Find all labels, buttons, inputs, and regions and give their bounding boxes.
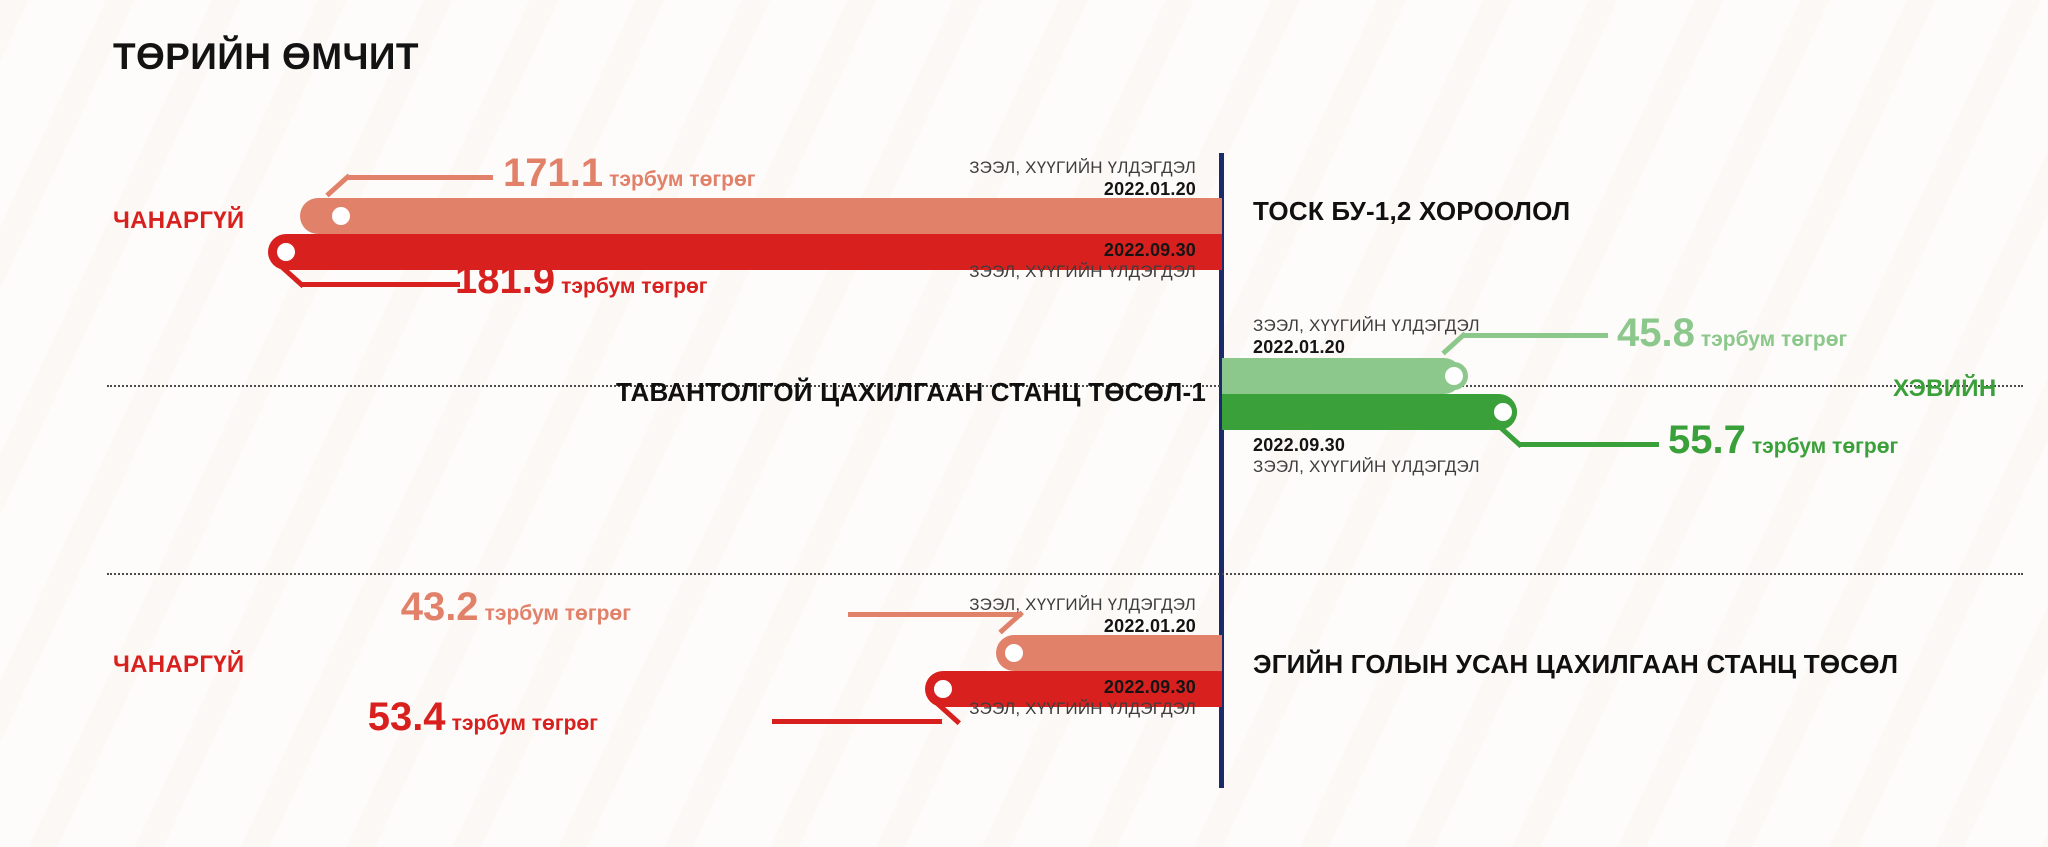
status-badge: ЧАНАРГҮЙ — [113, 651, 244, 679]
value-number: 55.7 — [1668, 418, 1746, 462]
meta-2022-09-30: 2022.09.30 ЗЭЭЛ, ХҮҮГИЙН ҮЛДЭГДЭЛ — [969, 240, 1196, 283]
value-number: 43.2 — [401, 585, 479, 629]
value-number: 45.8 — [1617, 311, 1695, 355]
bar-2022-01-20 — [1222, 358, 1462, 394]
meta-2022-09-30: 2022.09.30 ЗЭЭЛ, ХҮҮГИЙН ҮЛДЭГДЭЛ — [969, 677, 1196, 720]
date-label: 2022.09.30 — [1253, 435, 1480, 457]
date-label: 2022.09.30 — [969, 677, 1196, 699]
bar-end-knob-2022-01-20 — [1000, 639, 1028, 667]
loan-caption: ЗЭЭЛ, ХҮҮГИЙН ҮЛДЭГДЭЛ — [1253, 316, 1480, 337]
bar-end-knob-2022-09-30 — [272, 238, 300, 266]
value-unit: тэрбум төгрөг — [561, 275, 707, 298]
loan-caption: ЗЭЭЛ, ХҮҮГИЙН ҮЛДЭГДЭЛ — [969, 595, 1196, 616]
bar-end-knob-2022-09-30 — [929, 675, 957, 703]
value-label-2022-01-20: 43.2тэрбум төгрөг — [401, 585, 631, 630]
bar-2022-09-30 — [1222, 394, 1517, 430]
meta-2022-01-20: ЗЭЭЛ, ХҮҮГИЙН ҮЛДЭГДЭЛ 2022.01.20 — [1253, 316, 1480, 359]
project-name: ТАВАНТОЛГОЙ ЦАХИЛГААН СТАНЦ ТӨСӨЛ-1 — [616, 377, 1206, 408]
date-label: 2022.01.20 — [969, 616, 1196, 638]
bar-2022-01-20 — [300, 198, 1222, 234]
meta-2022-09-30: 2022.09.30 ЗЭЭЛ, ХҮҮГИЙН ҮЛДЭГДЭЛ — [1253, 435, 1480, 478]
loan-caption: ЗЭЭЛ, ХҮҮГИЙН ҮЛДЭГДЭЛ — [969, 158, 1196, 179]
value-label-2022-01-20: 171.1тэрбум төгрөг — [503, 151, 756, 196]
chart-row-egiin-gol: ЧАНАРГҮЙ 43.2тэрбум төгрөг 53.4тэрбум тө… — [0, 573, 2048, 788]
value-unit: тэрбум төгрөг — [1752, 435, 1898, 458]
loan-caption: ЗЭЭЛ, ХҮҮГИЙН ҮЛДЭГДЭЛ — [969, 262, 1196, 283]
loan-caption: ЗЭЭЛ, ХҮҮГИЙН ҮЛДЭГДЭЛ — [969, 699, 1196, 720]
status-badge: ХЭВИЙН — [1893, 375, 1996, 403]
bar-2022-01-20 — [996, 635, 1222, 671]
project-name: ТОСК БУ-1,2 ХОРООЛОЛ — [1253, 196, 1570, 227]
value-number: 181.9 — [455, 258, 555, 302]
meta-2022-01-20: ЗЭЭЛ, ХҮҮГИЙН ҮЛДЭГДЭЛ 2022.01.20 — [969, 595, 1196, 638]
value-unit: тэрбум төгрөг — [609, 168, 755, 191]
value-label-2022-09-30: 181.9тэрбум төгрөг — [455, 258, 708, 303]
chart-row-tavantolgoi: ХЭВИЙН 45.8тэрбум төгрөг 55.7тэрбум төгр… — [0, 385, 2048, 573]
value-label-2022-09-30: 53.4тэрбум төгрөг — [368, 695, 598, 740]
page-title: ТӨРИЙН ӨМЧИТ — [113, 36, 419, 78]
bar-end-knob-2022-01-20 — [1440, 362, 1468, 390]
value-number: 53.4 — [368, 695, 446, 739]
value-label-2022-01-20: 45.8тэрбум төгрөг — [1617, 311, 1847, 356]
meta-2022-01-20: ЗЭЭЛ, ХҮҮГИЙН ҮЛДЭГДЭЛ 2022.01.20 — [969, 158, 1196, 201]
loan-caption: ЗЭЭЛ, ХҮҮГИЙН ҮЛДЭГДЭЛ — [1253, 457, 1480, 478]
bar-end-knob-2022-09-30 — [1489, 398, 1517, 426]
project-name: ЭГИЙН ГОЛЫН УСАН ЦАХИЛГААН СТАНЦ ТӨСӨЛ — [1253, 649, 1898, 680]
date-label: 2022.01.20 — [1253, 337, 1480, 359]
date-label: 2022.09.30 — [969, 240, 1196, 262]
value-unit: тэрбум төгрөг — [452, 712, 598, 735]
date-label: 2022.01.20 — [969, 179, 1196, 201]
value-unit: тэрбум төгрөг — [1701, 328, 1847, 351]
value-number: 171.1 — [503, 151, 603, 195]
status-badge: ЧАНАРГҮЙ — [113, 207, 244, 235]
value-unit: тэрбум төгрөг — [485, 602, 631, 625]
value-label-2022-09-30: 55.7тэрбум төгрөг — [1668, 418, 1898, 463]
bar-end-knob-2022-01-20 — [327, 202, 355, 230]
diverging-bar-chart: ТӨРИЙН ӨМЧИТ ЧАНАРГҮЙ 171.1тэрбум төгрөг… — [0, 0, 2048, 847]
